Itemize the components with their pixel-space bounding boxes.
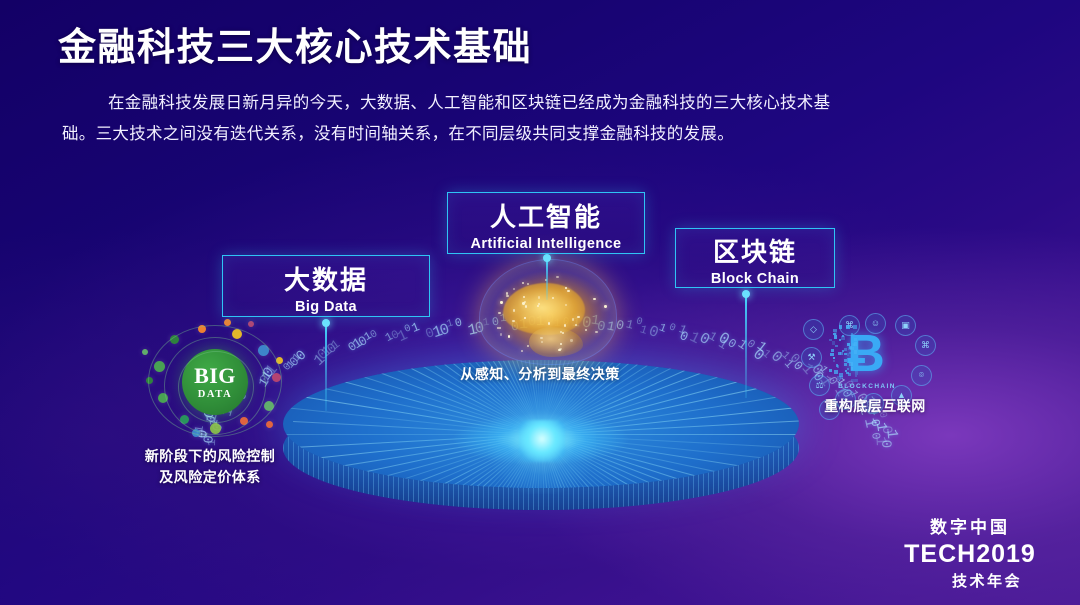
blockchain-pixel [851, 367, 854, 370]
brain-neuron-spark [540, 337, 542, 339]
blockchain-pixel [855, 375, 857, 377]
body-paragraph-line-1: 在金融科技发展日新月异的今天，大数据、人工智能和区块链已经成为金融科技的三大核心… [62, 88, 1022, 119]
binary-digit: 1 [350, 336, 365, 353]
blockchain-pixel [844, 359, 847, 362]
brain-neuron-spark [577, 316, 579, 318]
binary-digit: 0 [403, 323, 413, 336]
logo-line-2: TECH2019 [894, 540, 1046, 569]
brain-neuron-spark [513, 309, 515, 311]
binary-digit: 0 [647, 322, 661, 342]
blockchain-pixel [844, 353, 846, 355]
binary-digit: 1 [686, 328, 702, 348]
blockchain-node-icon: ◇ [803, 319, 824, 340]
blockchain-pixel [851, 333, 853, 335]
binary-digit: 0 [715, 329, 732, 349]
blockchain-pixel [853, 344, 855, 346]
caption-big-data-line-2: 及风险定价体系 [100, 467, 320, 488]
blockchain-pixel [849, 352, 851, 354]
brain-neuron-spark [498, 312, 500, 314]
card-ai-title-en: Artificial Intelligence [448, 236, 644, 252]
connector-dot-icon [322, 319, 330, 327]
brain-neuron-spark [585, 329, 587, 331]
connector-dot-icon [543, 254, 551, 262]
body-paragraph-line-2: 础。三大技术之间没有迭代关系，没有时间轴关系，在不同层级共同支撑金融科技的发展。 [62, 119, 1022, 150]
binary-digit: 1 [395, 326, 411, 346]
binary-digit: 1 [319, 343, 336, 361]
binary-digit: 1 [872, 436, 891, 446]
binary-digit: 1 [753, 339, 769, 356]
brain-neuron-spark [521, 350, 523, 352]
blockchain-pixel [847, 343, 850, 346]
blockchain-pixel [846, 325, 850, 329]
brain-neuron-spark [548, 322, 550, 324]
connector-blockchain [745, 294, 747, 398]
binary-digit: 1 [638, 323, 649, 337]
binary-digit: 0 [453, 315, 463, 330]
big-data-icon-cluster: BIG DATA [140, 317, 290, 439]
binary-digit: 1 [362, 331, 374, 345]
binary-digit: 1 [676, 322, 688, 338]
connector-big-data [325, 323, 327, 411]
binary-digit: 1 [707, 329, 720, 345]
binary-digit: 1 [872, 422, 889, 433]
disc-core [519, 420, 565, 462]
logo-line-3: 技术年会 [894, 570, 1046, 591]
blockchain-node-icon: ⚒ [801, 347, 822, 368]
binary-digit: 0 [877, 439, 893, 448]
blockchain-pixel [839, 325, 842, 328]
binary-digit: 1 [715, 336, 730, 353]
blockchain-pixel [836, 364, 838, 366]
blockchain-pixel [835, 345, 837, 347]
blockchain-pixel [838, 352, 841, 355]
binary-digit: 0 [368, 328, 379, 342]
slide-body-copy: 在金融科技发展日新月异的今天，大数据、人工智能和区块链已经成为金融科技的三大核心… [62, 88, 1022, 150]
blockchain-node-icon: ⚖ [809, 375, 830, 396]
card-big-data-title-en: Big Data [223, 299, 429, 315]
brain-neuron-spark [506, 295, 508, 297]
binary-digit: 1 [384, 331, 396, 345]
blockchain-node-icon: ▣ [895, 315, 916, 336]
card-big-data-title-cn: 大数据 [223, 266, 429, 295]
binary-digit: 1 [409, 320, 421, 336]
logo-line-1: 数字中国 [894, 513, 1046, 538]
binary-digit: 1 [860, 416, 880, 429]
blockchain-pixel [830, 353, 833, 356]
blockchain-pixel [829, 339, 832, 342]
brain-neuron-spark [559, 348, 561, 350]
binary-digit: 1 [206, 439, 219, 446]
binary-digit: 0 [667, 322, 677, 334]
binary-digit: 0 [389, 328, 401, 343]
binary-digit: 1 [446, 318, 455, 331]
blockchain-pixel [840, 376, 842, 378]
binary-digit: 0 [696, 328, 713, 348]
binary-digit: 0 [725, 337, 739, 353]
brain-neuron-spark [506, 292, 508, 294]
binary-digit: 0 [356, 333, 371, 350]
binary-digit: 1 [657, 322, 668, 336]
brain-neuron-spark [527, 283, 529, 285]
blockchain-node-icon: ⌾ [911, 365, 932, 386]
connector-ai [546, 258, 548, 300]
brain-neuron-spark [500, 301, 502, 303]
blockchain-pixel [854, 338, 857, 341]
blockchain-pixel [841, 336, 845, 340]
binary-digit: 1 [734, 337, 749, 354]
blockchain-pixel [845, 370, 848, 373]
blockchain-pixel [844, 363, 847, 366]
binary-digit: 1 [624, 317, 634, 332]
blockchain-pixel [854, 350, 858, 354]
blockchain-pixel [829, 369, 832, 372]
card-ai-title-cn: 人工智能 [448, 203, 644, 232]
card-chain-title-en: Block Chain [676, 271, 834, 287]
card-artificial-intelligence[interactable]: 人工智能 Artificial Intelligence [447, 192, 645, 254]
blockchain-pixel [844, 348, 847, 351]
binary-digit: 0 [423, 325, 436, 343]
blockchain-pixel [833, 360, 836, 363]
connector-dot-icon [742, 290, 750, 298]
blockchain-node-icon: ☺ [865, 313, 886, 334]
binary-digit: 0 [437, 320, 451, 340]
blockchain-pixel [834, 370, 838, 374]
blockchain-pixel [831, 349, 835, 353]
caption-ai: 从感知、分析到最终决策 [430, 364, 650, 385]
caption-blockchain: 重构底层互联网 [795, 396, 955, 417]
blockchain-pixel [853, 325, 857, 329]
caption-big-data: 新阶段下的风险控制 及风险定价体系 [100, 446, 320, 488]
slide-canvas: 金融科技三大核心技术基础 在金融科技发展日新月异的今天，大数据、人工智能和区块链… [0, 0, 1080, 605]
card-chain-title-cn: 区块链 [676, 238, 834, 267]
card-big-data[interactable]: 大数据 Big Data [222, 255, 430, 317]
big-data-node-icon [266, 421, 273, 428]
big-data-node-icon [142, 349, 148, 355]
binary-digit: 1 [329, 337, 343, 353]
binary-digit: 0 [678, 328, 691, 345]
brain-neuron-spark [500, 333, 502, 335]
brain-neuron-spark [575, 324, 577, 326]
brain-neuron-spark [556, 276, 558, 278]
binary-digit: 0 [877, 425, 894, 436]
page-title: 金融科技三大核心技术基础 [58, 16, 532, 71]
blockchain-pixel [849, 362, 852, 365]
card-block-chain[interactable]: 区块链 Block Chain [675, 228, 835, 288]
blockchain-pixel [848, 347, 851, 350]
blockchain-pixel [834, 335, 837, 338]
binary-digit: 0 [346, 340, 360, 356]
brain-neuron-spark [570, 339, 572, 341]
blockchain-pixel [855, 379, 858, 382]
binary-digit: 0 [868, 432, 883, 440]
event-logo: 数字中国 TECH2019 技术年会 [894, 513, 1046, 591]
big-data-orbit-ring [178, 351, 254, 423]
blockchain-pixel [834, 332, 837, 335]
blockchain-node-icon: ⌘ [915, 335, 936, 356]
binary-digit: 0 [867, 418, 882, 428]
brain-neuron-spark [604, 305, 606, 307]
blockchain-pixel [839, 380, 841, 382]
brain-neuron-spark [560, 343, 562, 345]
big-data-node-icon [248, 321, 254, 327]
blockchain-pixel [847, 368, 849, 370]
binary-digit: 0 [634, 316, 643, 328]
binary-digit: 1 [430, 322, 445, 342]
brain-neuron-spark [538, 296, 540, 298]
caption-big-data-line-1: 新阶段下的风险控制 [100, 446, 320, 467]
binary-digit: 1 [882, 429, 901, 440]
